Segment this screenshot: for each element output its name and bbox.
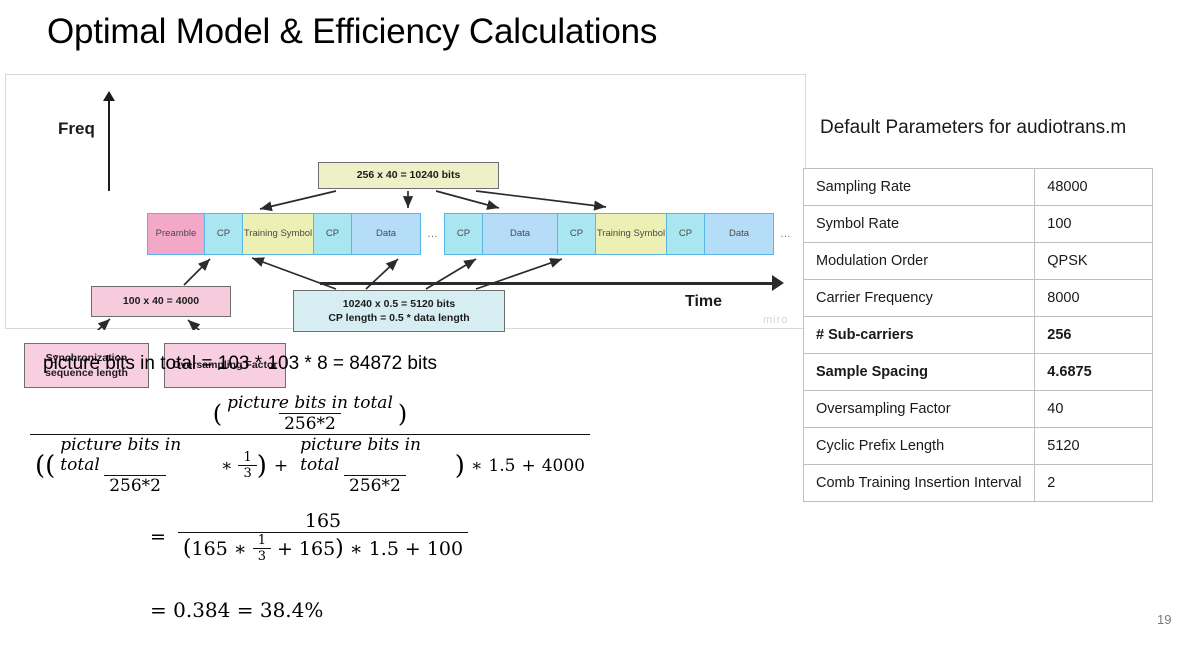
param-key: Sample Spacing [804, 354, 1035, 391]
annotation-cp-length: 10240 x 0.5 = 5120 bits CP length = 0.5 … [293, 290, 505, 332]
expr1-den-t2-denominator: 256*2 [344, 475, 406, 496]
miro-watermark: miro [763, 314, 788, 326]
expr1-den-t1-factor-numerator: 1 [238, 450, 256, 465]
param-key: Cyclic Prefix Length [804, 428, 1035, 465]
expr1-den-multiplier: 1.5 [488, 456, 515, 476]
table-row: Sampling Rate48000 [804, 169, 1153, 206]
equation-picture-bits: picture bits in total = 103 * 103 * 8 = … [43, 353, 437, 375]
expr2-den-b: 165 [299, 538, 335, 560]
param-value: QPSK [1035, 243, 1153, 280]
expr2-numerator: 165 [300, 510, 346, 532]
expr2-den-frac-numerator: 1 [253, 533, 271, 548]
frame-structure-diagram: Freq Time PreambleCPTraining SymbolCPDat… [5, 74, 806, 329]
table-row: # Sub-carriers256 [804, 317, 1153, 354]
expr1-num-inner-numerator: picture bits in total [222, 393, 398, 413]
table-row: Sample Spacing4.6875 [804, 354, 1153, 391]
param-value: 4.6875 [1035, 354, 1153, 391]
expr2-equals: = [150, 526, 178, 548]
equation-efficiency-numeric: = 165 ( 165 ∗ 1 3 + 165 [150, 510, 468, 564]
page-number: 19 [1157, 612, 1171, 627]
slide-canvas: Optimal Model & Efficiency Calculations … [0, 0, 1200, 650]
param-key: Oversampling Factor [804, 391, 1035, 428]
table-row: Oversampling Factor40 [804, 391, 1153, 428]
expr2-den-multiplier: 1.5 [369, 538, 399, 560]
param-key: Modulation Order [804, 243, 1035, 280]
param-key: Sampling Rate [804, 169, 1035, 206]
expr1-den-t1-numerator: picture bits in total [55, 435, 215, 475]
expr2-den-addend: 100 [427, 538, 463, 560]
table-row: Carrier Frequency8000 [804, 280, 1153, 317]
equation-efficiency-result: = 0.384 = 38.4% [150, 598, 323, 622]
annotation-cp-line1: 10240 x 0.5 = 5120 bits [328, 297, 469, 311]
expr2-den-frac-denominator: 3 [253, 548, 271, 564]
param-value: 48000 [1035, 169, 1153, 206]
expr1-den-addend: 4000 [542, 456, 585, 476]
param-value: 256 [1035, 317, 1153, 354]
expr1-num-inner-denominator: 256*2 [279, 413, 341, 434]
expr2-den-a: 165 [192, 538, 228, 560]
param-value: 40 [1035, 391, 1153, 428]
table-row: Comb Training Insertion Interval2 [804, 465, 1153, 502]
equation-efficiency-symbolic: ( picture bits in total 256*2 ) (( pictu… [30, 393, 590, 496]
param-key: Symbol Rate [804, 206, 1035, 243]
table-row: Cyclic Prefix Length5120 [804, 428, 1153, 465]
annotation-cp-line2: CP length = 0.5 * data length [328, 311, 469, 325]
annotation-preamble-length: 100 x 40 = 4000 [91, 286, 231, 317]
annotation-subcarrier-bits: 256 x 40 = 10240 bits [318, 162, 499, 189]
expr1-den-t2-numerator: picture bits in total [295, 435, 455, 475]
param-key: Comb Training Insertion Interval [804, 465, 1035, 502]
params-table-title: Default Parameters for audiotrans.m [820, 117, 1126, 139]
params-table-body: Sampling Rate48000Symbol Rate100Modulati… [804, 169, 1153, 502]
param-value: 8000 [1035, 280, 1153, 317]
param-value: 2 [1035, 465, 1153, 502]
param-key: # Sub-carriers [804, 317, 1035, 354]
table-row: Symbol Rate100 [804, 206, 1153, 243]
param-key: Carrier Frequency [804, 280, 1035, 317]
param-value: 100 [1035, 206, 1153, 243]
table-row: Modulation OrderQPSK [804, 243, 1153, 280]
page-title: Optimal Model & Efficiency Calculations [47, 12, 657, 52]
expr1-den-t1-denominator: 256*2 [104, 475, 166, 496]
param-value: 5120 [1035, 428, 1153, 465]
expr1-den-t1-factor-denominator: 3 [238, 465, 256, 481]
default-parameters-table: Sampling Rate48000Symbol Rate100Modulati… [803, 168, 1153, 502]
